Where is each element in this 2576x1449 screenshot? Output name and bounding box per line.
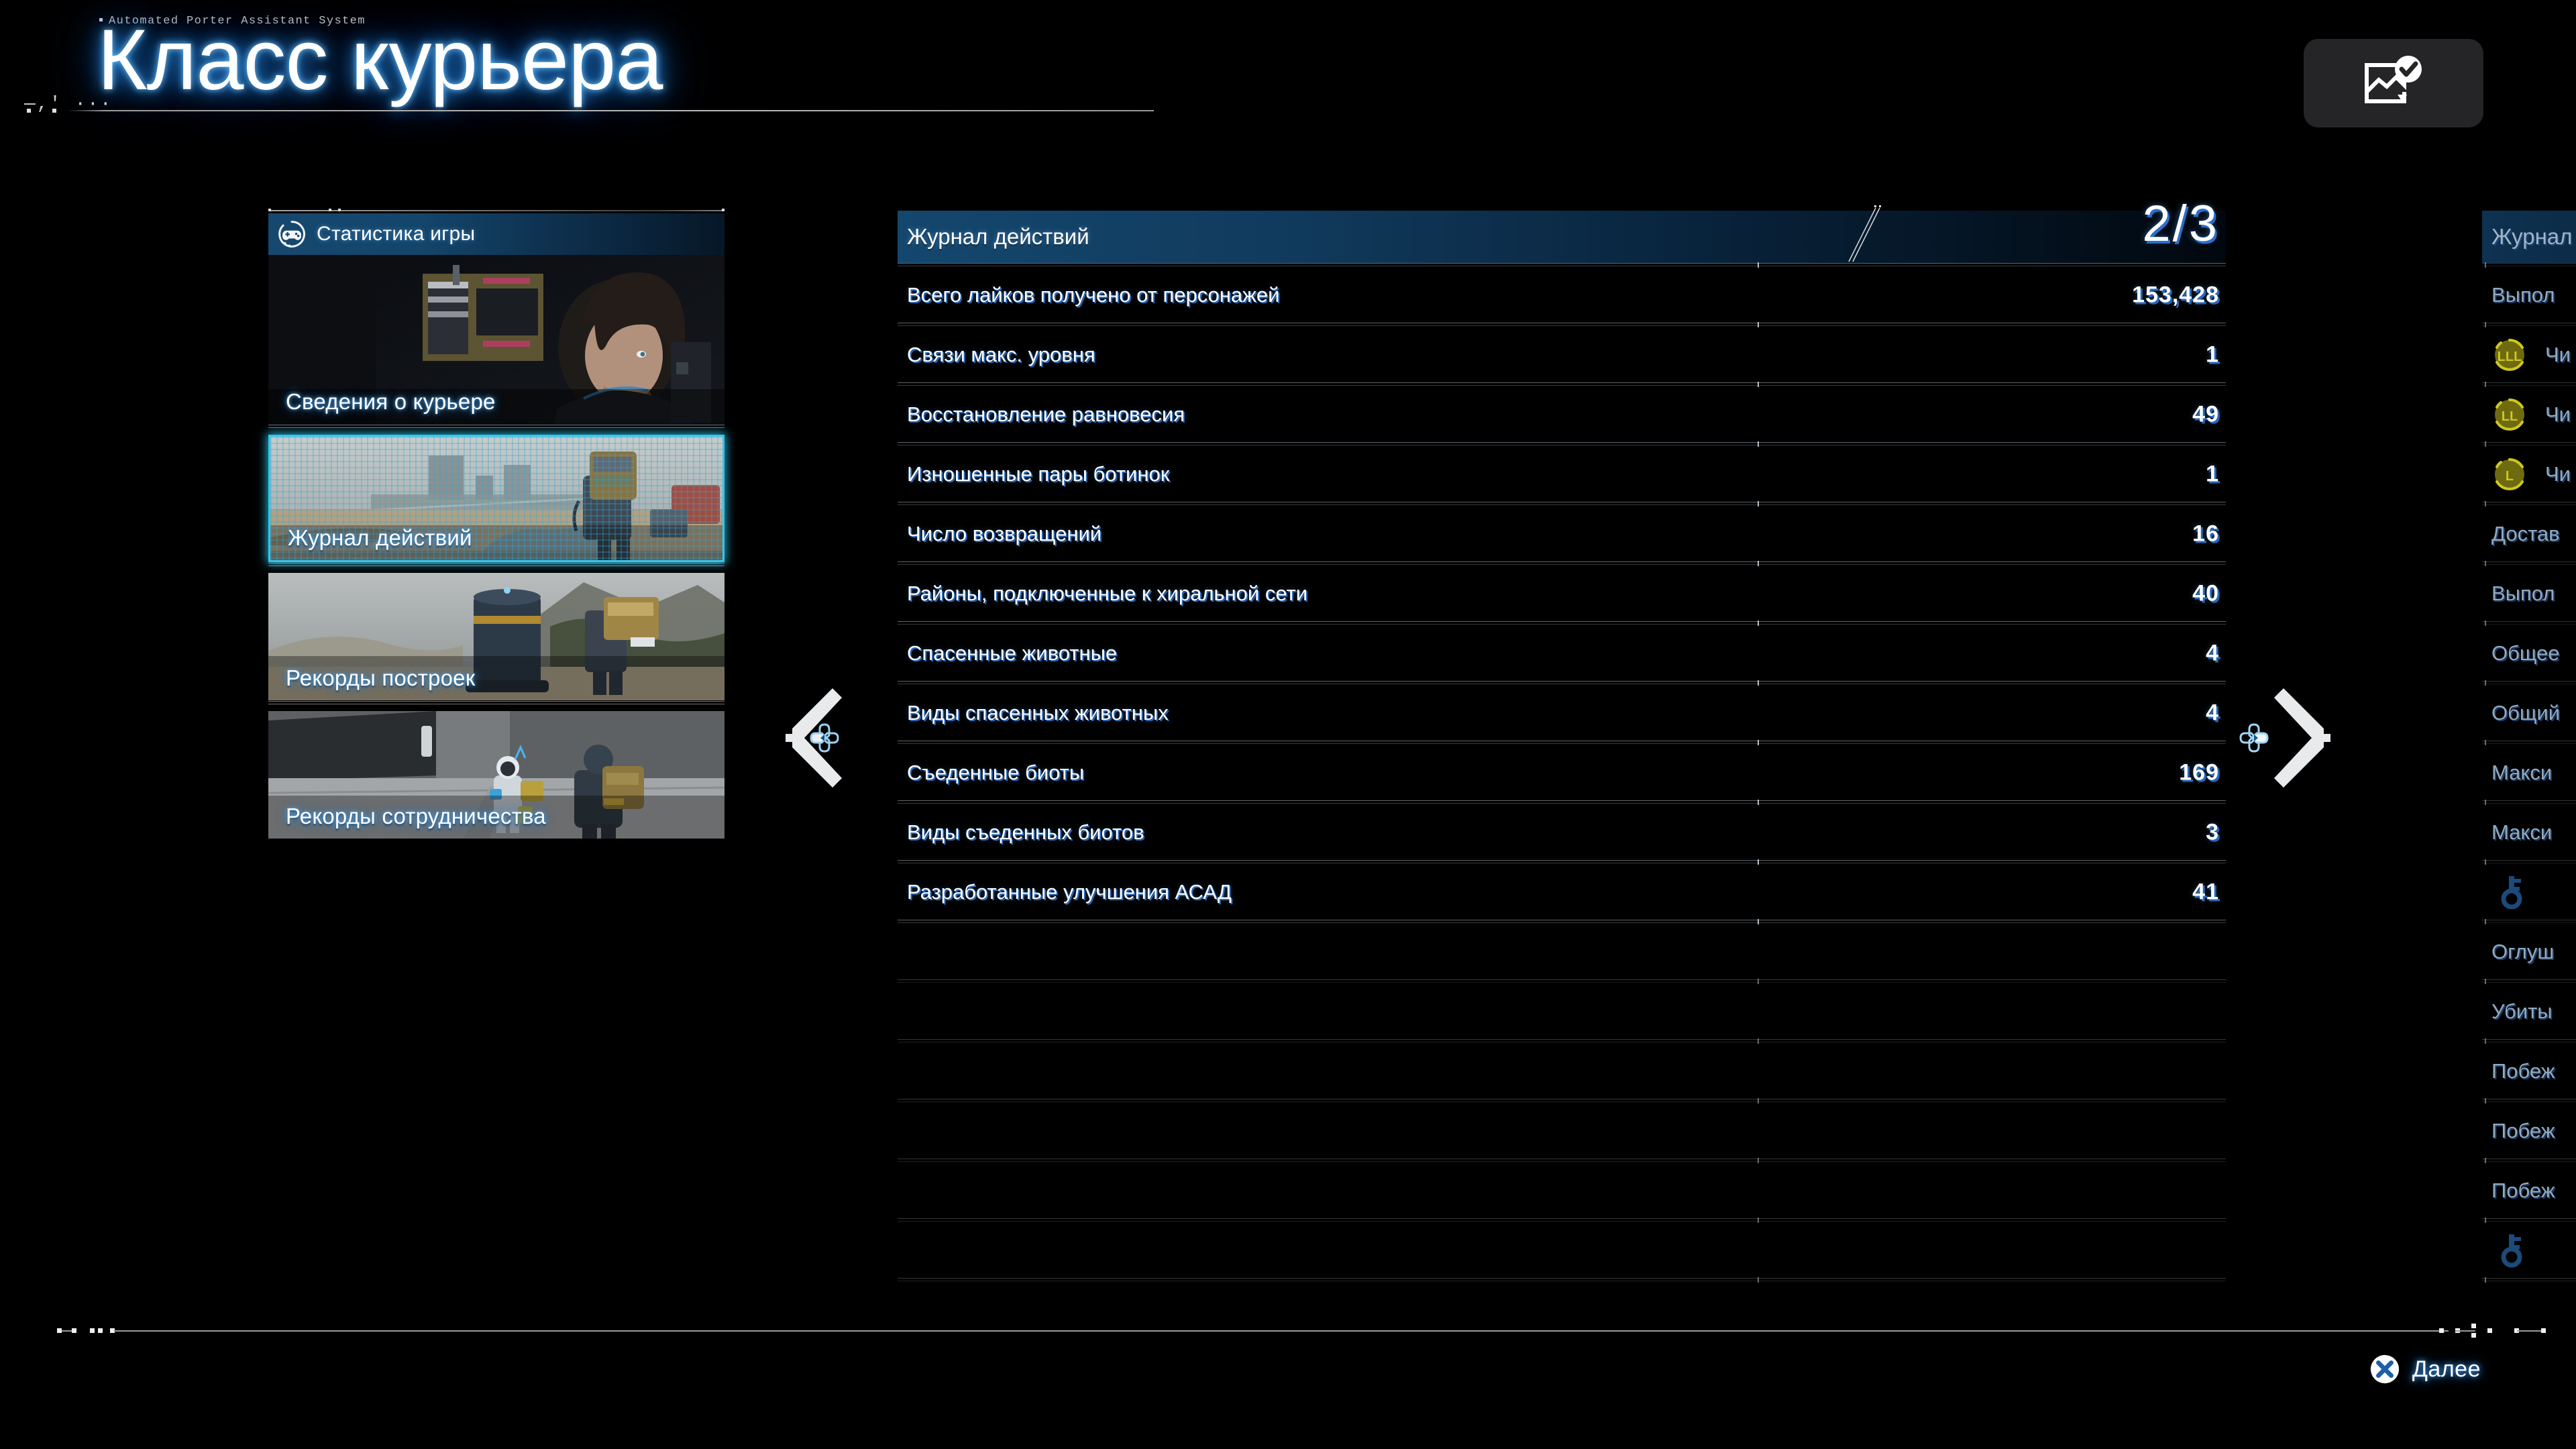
stat-row: Изношенные пары ботинок1 — [898, 447, 2226, 502]
stat-label: Районы, подключенные к хиральной сети — [907, 582, 1307, 606]
row-separator — [898, 323, 2226, 327]
sidebar-header-tick — [268, 209, 271, 211]
next-panel-row-label: Выпол — [2491, 582, 2555, 606]
row-separator — [2482, 561, 2576, 566]
stat-row: Спасенные животные4 — [898, 626, 2226, 681]
next-panel-row-label: Чи — [2545, 402, 2571, 427]
sidebar-item-label: Сведения о курьере — [286, 389, 496, 415]
next-panel-row-label: Побеж — [2491, 1179, 2555, 1203]
stat-label: Виды съеденных биотов — [907, 820, 1144, 845]
row-separator — [2482, 1039, 2576, 1044]
game-stats-sidebar[interactable]: Статистика игры — [268, 213, 724, 839]
stat-row: Разработанные улучшения АСАД41 — [898, 865, 2226, 920]
row-separator — [898, 860, 2226, 865]
stat-row-empty — [898, 984, 2226, 1039]
next-panel-row-label: Чи — [2545, 343, 2571, 367]
row-separator — [2482, 1218, 2576, 1223]
key-icon — [2497, 1232, 2526, 1269]
next-panel-row-label: Оглуш — [2491, 940, 2554, 964]
row-separator — [898, 1039, 2226, 1044]
sidebar-item-label: Журнал действий — [288, 525, 472, 551]
row-separator — [898, 1159, 2226, 1163]
next-panel-rows-container: ВыполLLLЧиLLЧиLЧиДоставВыполОбщееОбщийМа… — [2482, 268, 2576, 1283]
row-separator — [898, 442, 2226, 447]
page-title: Класс курьера — [97, 17, 662, 103]
stat-value: 1 — [2206, 462, 2219, 488]
page-header: Automated Porter Assistant System Класс … — [0, 0, 2576, 141]
sidebar-separator — [268, 562, 724, 568]
sidebar-item-activity-log[interactable]: Журнал действий — [268, 435, 724, 562]
row-separator — [2482, 1099, 2576, 1104]
stat-row: Всего лайков получено от персонажей153,4… — [898, 268, 2226, 323]
sidebar-separator — [268, 700, 724, 706]
row-separator — [2482, 1278, 2576, 1283]
stat-row-empty — [898, 1163, 2226, 1218]
next-panel-row: Побеж — [2482, 1104, 2576, 1159]
next-panel-row: Общее — [2482, 626, 2576, 681]
sidebar-item-cooperation-records[interactable]: Рекорды сотрудничества — [268, 711, 724, 839]
row-separator — [2482, 979, 2576, 984]
svg-text:LL: LL — [2502, 409, 2518, 424]
stat-value: 41 — [2192, 879, 2219, 906]
stat-row: Районы, подключенные к хиральной сети40 — [898, 566, 2226, 621]
next-panel-row: Оглуш — [2482, 924, 2576, 979]
stat-row: Виды съеденных биотов3 — [898, 805, 2226, 860]
next-panel-row-label: Выпол — [2491, 283, 2555, 307]
next-panel-row — [2482, 865, 2576, 920]
row-separator — [2482, 382, 2576, 387]
page-counter: 2/3 — [2142, 195, 2219, 253]
stat-value: 16 — [2192, 521, 2219, 547]
row-separator — [898, 621, 2226, 626]
stat-row: Восстановление равновесия49 — [898, 387, 2226, 442]
stat-row: Виды спасенных животных4 — [898, 686, 2226, 741]
stat-row: Связи макс. уровня1 — [898, 327, 2226, 382]
sidebar-header-label: Статистика игры — [317, 223, 475, 246]
stat-label: Виды спасенных животных — [907, 701, 1169, 725]
row-separator — [898, 741, 2226, 745]
next-panel-row-label: Макси — [2491, 761, 2552, 785]
stat-row: Число возвращений16 — [898, 506, 2226, 561]
stat-label: Всего лайков получено от персонажей — [907, 283, 1279, 307]
next-panel-row-label: Чи — [2545, 462, 2571, 486]
dpad-left-icon — [775, 684, 882, 792]
sidebar-header-tick — [329, 209, 331, 211]
stat-value: 4 — [2206, 641, 2219, 667]
next-panel-row: Побеж — [2482, 1044, 2576, 1099]
next-page-preview-panel: Журнал ВыполLLLЧиLLЧиLЧиДоставВыполОбщее… — [2482, 211, 2576, 1283]
row-separator — [2482, 323, 2576, 327]
row-separator — [2482, 860, 2576, 865]
medal-icon: LL — [2491, 396, 2528, 433]
next-panel-row: Побеж — [2482, 1163, 2576, 1218]
medal-icon: L — [2491, 456, 2528, 492]
title-rule-tick — [27, 109, 31, 113]
svg-text:LLL: LLL — [2498, 350, 2522, 364]
stat-label: Спасенные животные — [907, 641, 1117, 665]
row-separator — [2482, 621, 2576, 626]
stats-section-header: Журнал действий 2/3 — [898, 211, 2226, 263]
previous-page-button[interactable] — [775, 684, 882, 792]
stat-label: Восстановление равновесия — [907, 402, 1185, 427]
stats-table: Журнал действий 2/3 Всего лайков получен… — [898, 211, 2226, 1283]
next-panel-row: Макси — [2482, 805, 2576, 860]
stat-row-empty — [898, 1104, 2226, 1159]
row-separator — [898, 1218, 2226, 1223]
title-underline — [67, 110, 1154, 111]
stat-row: Съеденные биоты169 — [898, 745, 2226, 800]
row-separator — [898, 1099, 2226, 1104]
row-separator — [2482, 263, 2576, 268]
next-page-button[interactable] — [2234, 684, 2341, 792]
sidebar-header: Статистика игры — [268, 213, 724, 255]
sidebar-item-label: Рекорды построек — [286, 665, 475, 691]
next-panel-row-label: Побеж — [2491, 1059, 2555, 1083]
row-separator — [2482, 1159, 2576, 1163]
stat-value: 1 — [2206, 342, 2219, 368]
next-panel-row: LLLЧи — [2482, 327, 2576, 382]
screenshot-saved-icon — [2361, 53, 2426, 113]
row-separator — [898, 920, 2226, 924]
stat-label: Число возвращений — [907, 522, 1102, 546]
row-separator — [898, 502, 2226, 506]
sidebar-item-label: Рекорды сотрудничества — [286, 804, 546, 829]
footer-action-next[interactable]: Далее — [2369, 1354, 2481, 1385]
next-panel-row-label: Побеж — [2491, 1119, 2555, 1143]
next-panel-row-label: Убиты — [2491, 1000, 2553, 1024]
footer-divider — [0, 1330, 2576, 1332]
row-separator — [898, 1278, 2226, 1283]
next-panel-row — [2482, 1223, 2576, 1278]
next-panel-header: Журнал — [2482, 211, 2576, 263]
stat-value: 169 — [2179, 760, 2219, 786]
medal-icon: LLL — [2491, 337, 2528, 373]
stat-label: Съеденные биоты — [907, 761, 1084, 785]
next-panel-row-label: Общий — [2491, 701, 2560, 725]
next-panel-row: Убиты — [2482, 984, 2576, 1039]
stat-label: Разработанные улучшения АСАД — [907, 880, 1232, 904]
sidebar-item-structure-records[interactable]: Рекорды построек — [268, 573, 724, 700]
row-separator — [2482, 920, 2576, 924]
svg-text:L: L — [2506, 469, 2514, 484]
stat-label: Изношенные пары ботинок — [907, 462, 1169, 486]
row-separator — [2482, 442, 2576, 447]
sidebar-header-tick — [722, 209, 724, 211]
next-panel-row: Общий — [2482, 686, 2576, 741]
sidebar-header-tick — [338, 209, 341, 211]
sidebar-item-porter-info[interactable]: Сведения о курьере — [268, 255, 724, 424]
playstation-cross-icon — [2369, 1354, 2400, 1385]
stat-value: 3 — [2206, 820, 2219, 846]
title-decoration-glyph: —,′ ··· — [24, 94, 113, 115]
next-panel-row-label: Общее — [2491, 641, 2560, 665]
row-separator — [898, 382, 2226, 387]
key-icon — [2497, 873, 2526, 911]
title-rule-tick — [52, 109, 56, 113]
stat-label: Связи макс. уровня — [907, 343, 1095, 367]
stat-value: 4 — [2206, 700, 2219, 727]
sidebar-separator — [268, 424, 724, 429]
next-panel-row: Выпол — [2482, 566, 2576, 621]
row-separator — [2482, 681, 2576, 686]
footer-action-label: Далее — [2412, 1356, 2481, 1383]
row-separator — [2482, 800, 2576, 805]
header-slash-decoration — [1841, 205, 1881, 264]
stat-value: 153,428 — [2132, 282, 2219, 309]
row-separator — [898, 800, 2226, 805]
dpad-right-icon — [2234, 684, 2341, 792]
next-panel-row-label: Макси — [2491, 820, 2552, 845]
next-panel-row: Достав — [2482, 506, 2576, 561]
next-panel-row-label: Достав — [2491, 522, 2560, 546]
row-separator — [898, 263, 2226, 268]
stat-value: 49 — [2192, 402, 2219, 428]
next-panel-header-label: Журнал — [2491, 224, 2572, 250]
stat-row-empty — [898, 1044, 2226, 1099]
row-separator — [898, 561, 2226, 566]
stat-value: 40 — [2192, 581, 2219, 607]
stat-row-empty — [898, 924, 2226, 979]
stat-row-empty — [898, 1223, 2226, 1278]
row-separator — [2482, 502, 2576, 506]
screenshot-saved-toast — [2304, 39, 2483, 127]
row-separator — [898, 979, 2226, 984]
row-separator — [2482, 741, 2576, 745]
stats-section-title: Журнал действий — [907, 224, 1089, 250]
next-panel-row: LЧи — [2482, 447, 2576, 502]
row-separator — [898, 681, 2226, 686]
gamepad-icon — [278, 220, 306, 248]
next-panel-row: Макси — [2482, 745, 2576, 800]
stats-rows-container: Всего лайков получено от персонажей153,4… — [898, 268, 2226, 1283]
next-panel-row: LLЧи — [2482, 387, 2576, 442]
next-panel-row: Выпол — [2482, 268, 2576, 323]
